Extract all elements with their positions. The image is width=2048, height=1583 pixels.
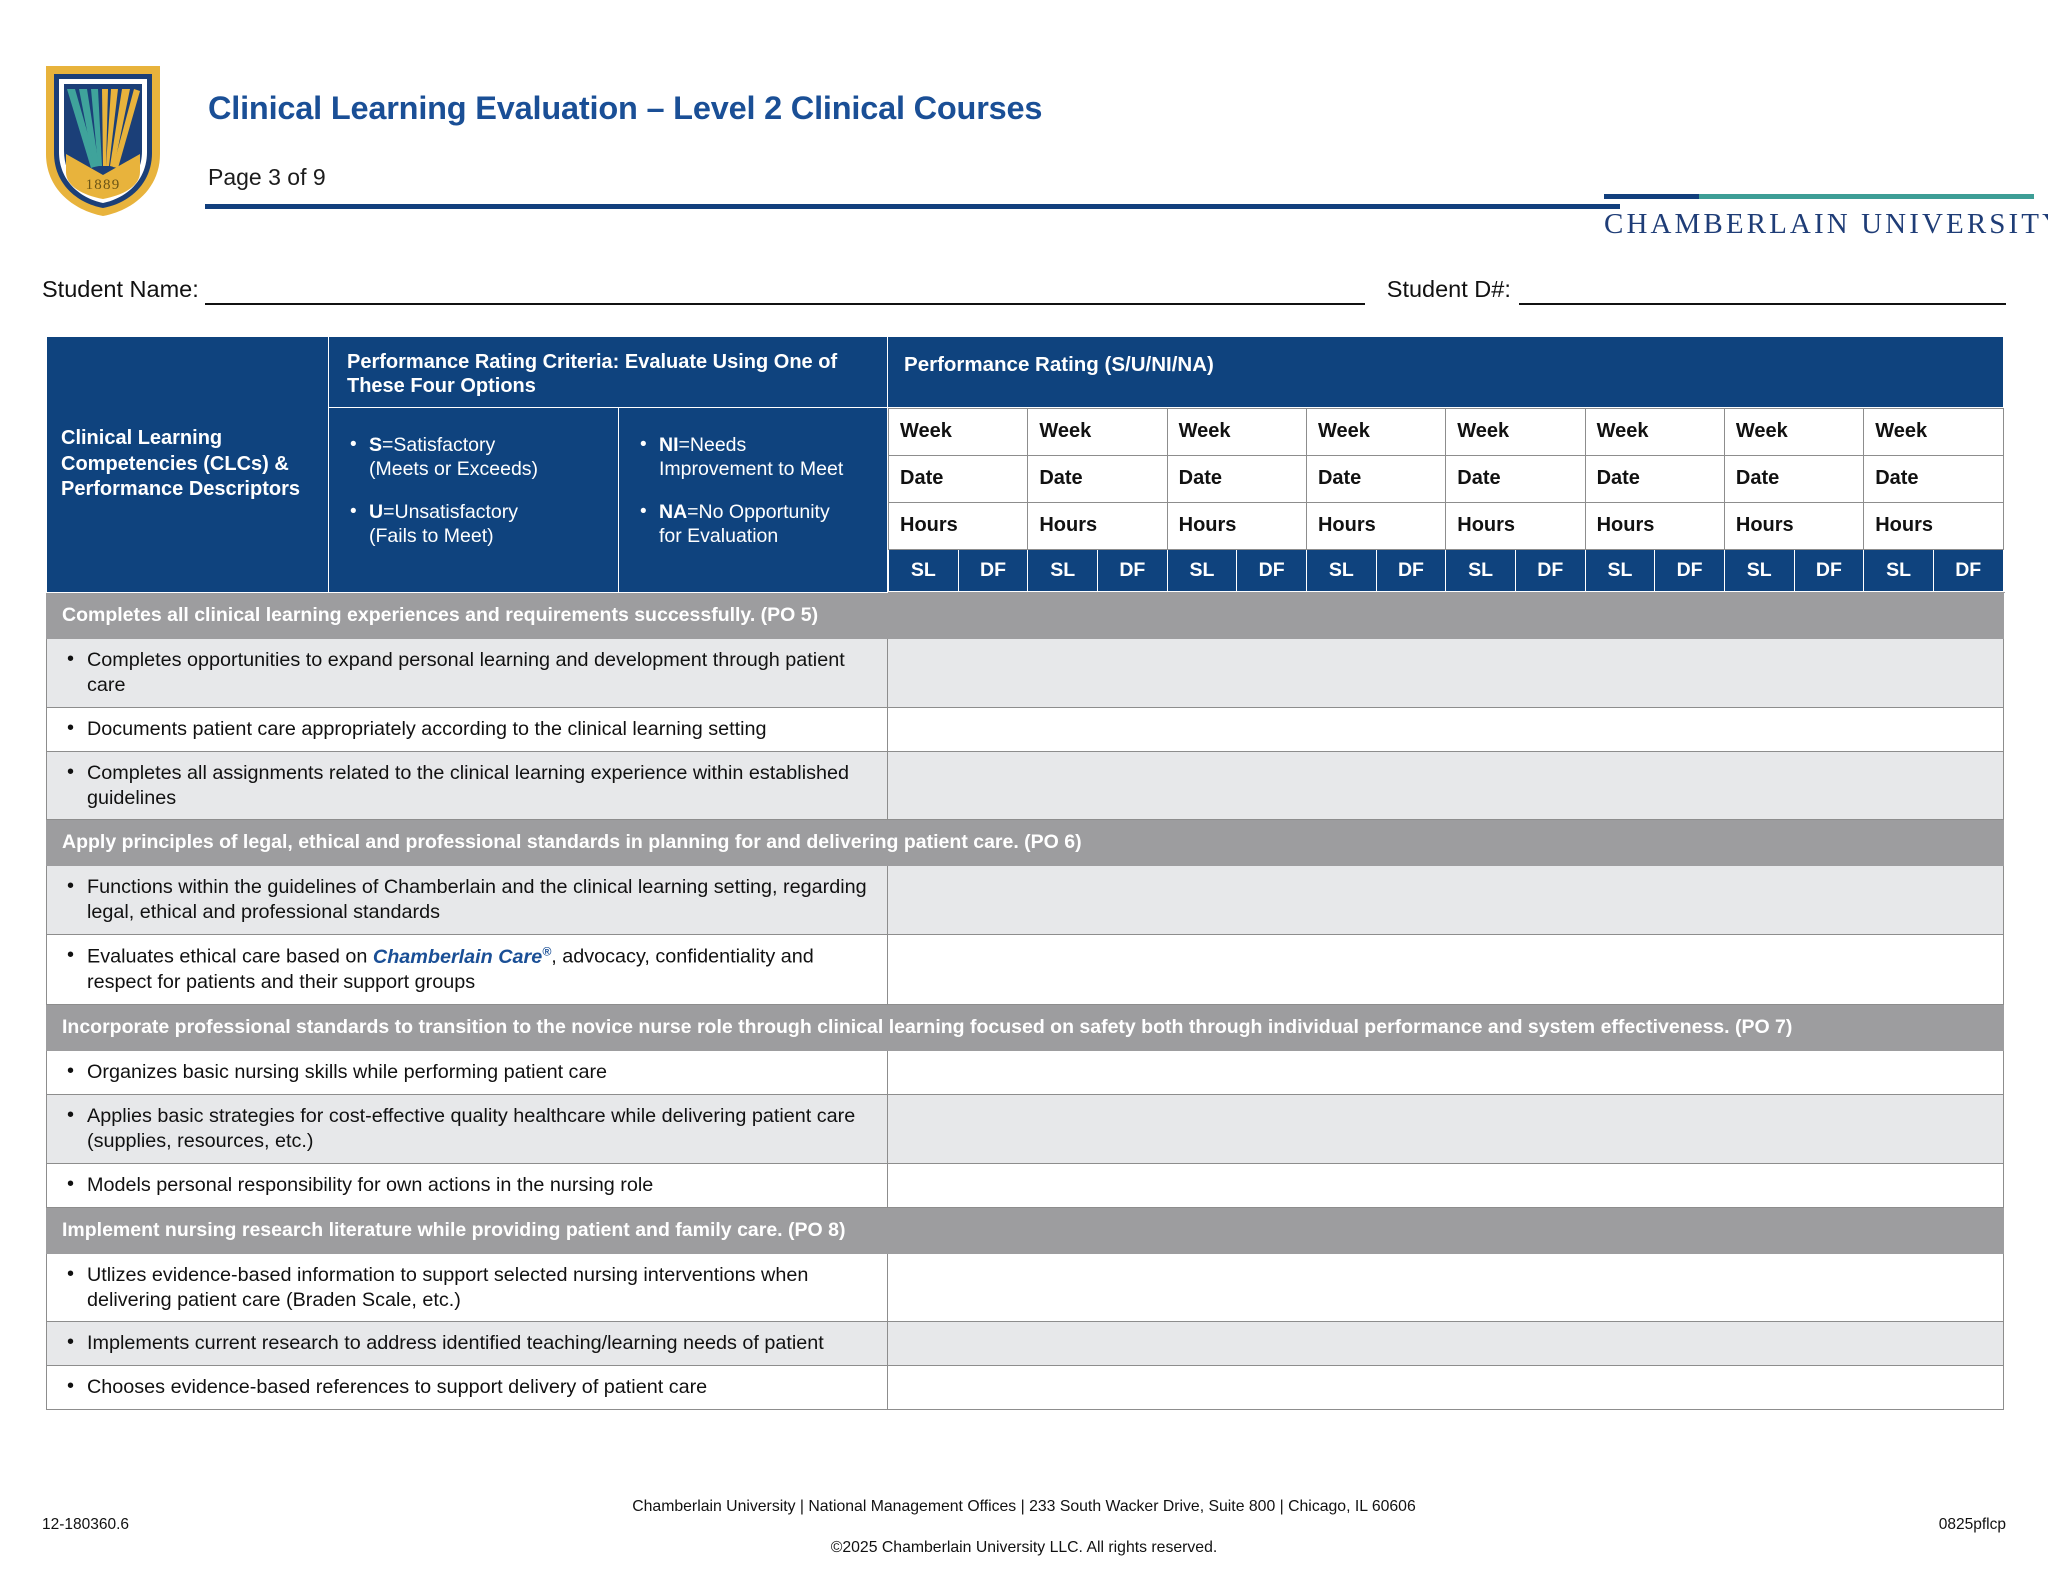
document-page: 1889 Clinical Learning Evaluation – Leve… [0, 0, 2048, 1583]
df-header-cell-3: DF [1237, 549, 1307, 591]
registered-mark: ® [542, 944, 551, 958]
hours-header-cell-5[interactable]: Hours [1446, 502, 1585, 549]
table-row: Organizes basic nursing skills while per… [47, 1050, 2004, 1094]
table-row: Completes all assignments related to the… [47, 751, 2004, 820]
sl-header-cell-5: SL [1446, 549, 1516, 591]
sl-header-cell-4: SL [1306, 549, 1376, 591]
page-title: Clinical Learning Evaluation – Level 2 C… [208, 90, 1042, 127]
criteria-option-sub: Improvement to Meet [659, 458, 843, 480]
student-name-input-line[interactable] [205, 279, 1365, 305]
criteria-option-code: U [369, 501, 383, 523]
hours-header-cell-2[interactable]: Hours [1028, 502, 1167, 549]
hours-label-row: HoursHoursHoursHoursHoursHoursHoursHours [889, 502, 2004, 549]
header-rule-left [205, 204, 1620, 209]
rating-cell[interactable] [888, 707, 2004, 751]
sl-header-cell-8: SL [1864, 549, 1934, 591]
header-rule-right [1604, 194, 2034, 199]
rating-cell[interactable] [888, 1253, 2004, 1322]
section-heading-row: Incorporate professional standards to tr… [47, 1004, 2004, 1050]
section-heading-1: Completes all clinical learning experien… [47, 592, 2004, 638]
logo-year-text: 1889 [86, 177, 121, 193]
criteria-option-list-left: S=Satisfactory(Meets or Exceeds)U=Unsati… [343, 434, 608, 549]
week-header-cell-7[interactable]: Week [1724, 408, 1863, 455]
performance-descriptor-3-1: Organizes basic nursing skills while per… [47, 1050, 888, 1094]
week-header-cell-2[interactable]: Week [1028, 408, 1167, 455]
performance-descriptor-3-2: Applies basic strategies for cost-effect… [47, 1094, 888, 1163]
week-header-cell-3[interactable]: Week [1167, 408, 1306, 455]
criteria-option-sub: for Evaluation [659, 525, 778, 547]
rating-cell[interactable] [888, 1322, 2004, 1366]
page-footer: 12-180360.6 Chamberlain University | Nat… [0, 1498, 2048, 1557]
date-label-row: DateDateDateDateDateDateDateDate [889, 455, 2004, 502]
hours-header-cell-6[interactable]: Hours [1585, 502, 1724, 549]
table-row: Documents patient care appropriately acc… [47, 707, 2004, 751]
df-header-cell-5: DF [1515, 549, 1585, 591]
performance-descriptor-1-2: Documents patient care appropriately acc… [47, 707, 888, 751]
criteria-option-right-0: NI=NeedsImprovement to Meet [657, 434, 877, 482]
footer-left-code: 12-180360.6 [42, 1498, 342, 1534]
title-block: Clinical Learning Evaluation – Level 2 C… [208, 90, 1042, 127]
table-row: Models personal responsibility for own a… [47, 1163, 2004, 1207]
student-name-label: Student Name: [42, 276, 199, 305]
df-header-cell-4: DF [1376, 549, 1446, 591]
criteria-option-code: NA [659, 501, 687, 523]
hours-header-cell-3[interactable]: Hours [1167, 502, 1306, 549]
date-header-cell-8[interactable]: Date [1864, 455, 2003, 502]
table-row: Evaluates ethical care based on Chamberl… [47, 935, 2004, 1004]
chamberlain-shield-logo: 1889 [42, 62, 164, 220]
performance-rating-header: Performance Rating (S/U/NI/NA) [888, 337, 2004, 408]
rating-cell[interactable] [888, 1094, 2004, 1163]
student-id-input-line[interactable] [1519, 279, 2006, 305]
criteria-option-code: NI [659, 434, 679, 456]
section-heading-4: Implement nursing research literature wh… [47, 1207, 2004, 1253]
performance-descriptor-2-1: Functions within the guidelines of Chamb… [47, 866, 888, 935]
criteria-option-sub: (Fails to Meet) [369, 525, 494, 547]
table-row: Completes opportunities to expand person… [47, 638, 2004, 707]
performance-descriptor-1-3: Completes all assignments related to the… [47, 751, 888, 820]
hours-header-cell-1[interactable]: Hours [889, 502, 1028, 549]
rule-segment-navy [1604, 194, 1699, 199]
date-header-cell-2[interactable]: Date [1028, 455, 1167, 502]
week-header-cell-6[interactable]: Week [1585, 408, 1724, 455]
criteria-option-sub: (Meets or Exceeds) [369, 458, 538, 480]
rating-cell[interactable] [888, 1050, 2004, 1094]
week-header-cell-1[interactable]: Week [889, 408, 1028, 455]
student-id-label: Student D#: [1387, 276, 1511, 305]
week-header-cell-4[interactable]: Week [1306, 408, 1445, 455]
sl-header-cell-7: SL [1724, 549, 1794, 591]
brand-block: CHAMBERLAIN UNIVERSITY [1604, 194, 2034, 241]
chamberlain-care-mark: Chamberlain Care® [373, 946, 551, 968]
date-header-cell-1[interactable]: Date [889, 455, 1028, 502]
rating-cell[interactable] [888, 935, 2004, 1004]
criteria-header-text: Performance Rating Criteria: Evaluate Us… [347, 351, 837, 397]
section-heading-row: Implement nursing research literature wh… [47, 1207, 2004, 1253]
date-header-cell-3[interactable]: Date [1167, 455, 1306, 502]
rating-cell[interactable] [888, 751, 2004, 820]
date-header-cell-5[interactable]: Date [1446, 455, 1585, 502]
col-header-clc: Clinical Learning Competencies (CLCs) & … [47, 337, 329, 593]
sl-header-cell-1: SL [889, 549, 959, 591]
criteria-option-list-right: NI=NeedsImprovement to MeetNA=No Opportu… [633, 434, 877, 549]
df-header-cell-2: DF [1097, 549, 1167, 591]
rating-cell[interactable] [888, 638, 2004, 707]
performance-descriptor-4-2: Implements current research to address i… [47, 1322, 888, 1366]
df-header-cell-1: DF [958, 549, 1028, 591]
week-row-host: WeekWeekWeekWeekWeekWeekWeekWeek DateDat… [888, 407, 2004, 592]
footer-address-line: Chamberlain University | National Manage… [342, 1498, 1706, 1516]
hours-header-cell-8[interactable]: Hours [1864, 502, 2003, 549]
section-heading-2: Apply principles of legal, ethical and p… [47, 820, 2004, 866]
evaluation-table-wrap: Clinical Learning Competencies (CLCs) & … [46, 336, 2003, 1410]
criteria-header: Performance Rating Criteria: Evaluate Us… [329, 337, 888, 408]
section-heading-row: Apply principles of legal, ethical and p… [47, 820, 2004, 866]
table-row: Applies basic strategies for cost-effect… [47, 1094, 2004, 1163]
head-row-1: Clinical Learning Competencies (CLCs) & … [47, 337, 2004, 408]
rating-cell[interactable] [888, 1366, 2004, 1410]
df-header-cell-6: DF [1655, 549, 1725, 591]
date-header-cell-6[interactable]: Date [1585, 455, 1724, 502]
criteria-option-left-1: U=Unsatisfactory(Fails to Meet) [367, 501, 608, 549]
week-label-row: WeekWeekWeekWeekWeekWeekWeekWeek [889, 408, 2004, 455]
date-header-cell-4[interactable]: Date [1306, 455, 1445, 502]
section-heading-3: Incorporate professional standards to tr… [47, 1004, 2004, 1050]
date-header-cell-7[interactable]: Date [1724, 455, 1863, 502]
page-number-label: Page 3 of 9 [208, 164, 326, 191]
performance-descriptor-2-2: Evaluates ethical care based on Chamberl… [47, 935, 888, 1004]
table-row: Functions within the guidelines of Chamb… [47, 866, 2004, 935]
student-name-field[interactable]: Student Name: [42, 276, 1365, 305]
head-row-2: S=Satisfactory(Meets or Exceeds)U=Unsati… [47, 407, 2004, 592]
footer-copyright-line: ©2025 Chamberlain University LLC. All ri… [342, 1539, 1706, 1557]
week-header-cell-8[interactable]: Week [1864, 408, 2003, 455]
table-row: Chooses evidence-based references to sup… [47, 1366, 2004, 1410]
df-header-cell-8: DF [1933, 549, 2003, 591]
performance-descriptor-1-1: Completes opportunities to expand person… [47, 638, 888, 707]
performance-descriptor-3-3: Models personal responsibility for own a… [47, 1163, 888, 1207]
criteria-option-right-1: NA=No Opportunityfor Evaluation [657, 501, 877, 549]
brand-wordmark: CHAMBERLAIN UNIVERSITY [1604, 208, 2034, 241]
rating-cell[interactable] [888, 1163, 2004, 1207]
sl-header-cell-3: SL [1167, 549, 1237, 591]
evaluation-table: Clinical Learning Competencies (CLCs) & … [46, 336, 2004, 1410]
section-heading-row: Completes all clinical learning experien… [47, 592, 2004, 638]
performance-descriptor-4-3: Chooses evidence-based references to sup… [47, 1366, 888, 1410]
sl-header-cell-2: SL [1028, 549, 1098, 591]
rule-segment-teal [1699, 194, 2034, 199]
performance-descriptor-4-1: Utlizes evidence-based information to su… [47, 1253, 888, 1322]
criteria-options-right: NI=NeedsImprovement to MeetNA=No Opportu… [619, 407, 888, 592]
sl-header-cell-6: SL [1585, 549, 1655, 591]
criteria-option-code: S [369, 434, 382, 456]
table-head: Clinical Learning Competencies (CLCs) & … [47, 337, 2004, 593]
footer-center: Chamberlain University | National Manage… [342, 1498, 1706, 1557]
week-subtable: WeekWeekWeekWeekWeekWeekWeekWeek DateDat… [888, 408, 2004, 592]
footer-right-code: 0825pflcp [1706, 1498, 2006, 1534]
df-header-cell-7: DF [1794, 549, 1864, 591]
sl-df-label-row: SLDFSLDFSLDFSLDFSLDFSLDFSLDFSLDF [889, 549, 2004, 591]
student-id-field[interactable]: Student D#: [1387, 276, 2006, 305]
table-body: Completes all clinical learning experien… [47, 592, 2004, 1410]
student-fields-row: Student Name: Student D#: [0, 276, 2048, 305]
criteria-option-left-0: S=Satisfactory(Meets or Exceeds) [367, 434, 608, 482]
rating-cell[interactable] [888, 866, 2004, 935]
criteria-options-left: S=Satisfactory(Meets or Exceeds)U=Unsati… [329, 407, 619, 592]
table-row: Utlizes evidence-based information to su… [47, 1253, 2004, 1322]
week-header-cell-5[interactable]: Week [1446, 408, 1585, 455]
hours-header-cell-4[interactable]: Hours [1306, 502, 1445, 549]
hours-header-cell-7[interactable]: Hours [1724, 502, 1863, 549]
table-row: Implements current research to address i… [47, 1322, 2004, 1366]
page-header: 1889 Clinical Learning Evaluation – Leve… [0, 0, 2048, 212]
